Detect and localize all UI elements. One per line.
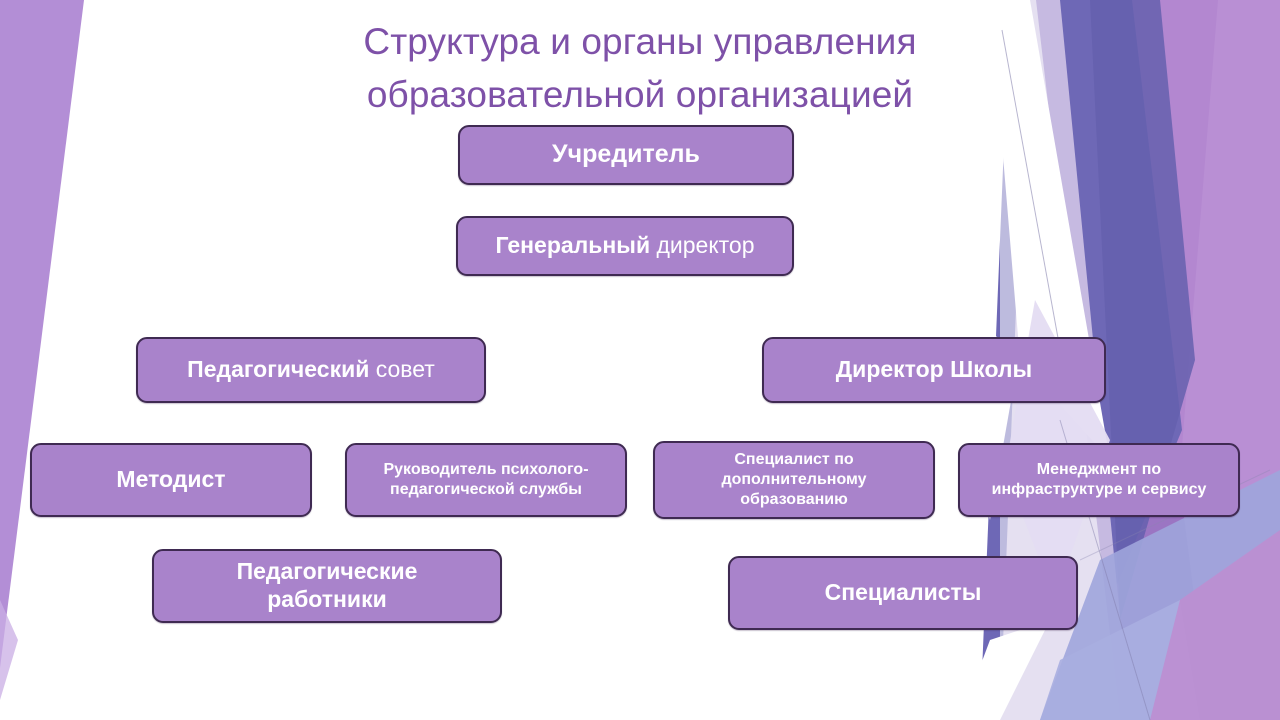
org-node-school-director[interactable]: Директор Школы xyxy=(762,337,1106,403)
org-node-label: Генеральный директор xyxy=(468,232,782,260)
left-wedge-shadow xyxy=(0,600,18,700)
org-node-label: Менеджмент по инфраструктуре и сервису xyxy=(970,460,1228,500)
slide-title: Структура и органы управления образовате… xyxy=(210,16,1070,121)
org-node-psychological-pedagogical-service-head[interactable]: Руководитель психолого- педагогической с… xyxy=(345,443,627,517)
org-node-specialists[interactable]: Специалисты xyxy=(728,556,1078,630)
org-node-founder[interactable]: Учредитель xyxy=(458,125,794,185)
org-node-label: Педагогический совет xyxy=(148,356,474,384)
org-node-label: Специалисты xyxy=(740,579,1066,607)
org-node-label: Специалист по дополнительному образовани… xyxy=(665,450,923,509)
decor-orchid-far xyxy=(1160,0,1280,720)
decor-indigo-deep xyxy=(1090,0,1195,620)
org-node-label-regular: совет xyxy=(369,356,434,382)
org-node-label: Методист xyxy=(42,466,300,494)
org-node-label-regular: директор xyxy=(650,232,754,258)
org-node-pedagogical-staff[interactable]: Педагогические работники xyxy=(152,549,502,623)
left-wedge-shape xyxy=(0,0,84,668)
slide-canvas: Структура и органы управления образовате… xyxy=(0,0,1280,720)
org-node-label: Педагогические работники xyxy=(164,558,490,613)
org-node-label: Руководитель психолого- педагогической с… xyxy=(357,460,615,500)
org-node-infrastructure-service-management[interactable]: Менеджмент по инфраструктуре и сервису xyxy=(958,443,1240,517)
decor-white-lower-notch xyxy=(960,620,1050,720)
org-node-label: Учредитель xyxy=(470,140,782,169)
org-node-pedagogical-council[interactable]: Педагогический совет xyxy=(136,337,486,403)
org-node-label: Директор Школы xyxy=(774,356,1094,384)
org-node-additional-education-specialist[interactable]: Специалист по дополнительному образовани… xyxy=(653,441,935,519)
org-node-general-director[interactable]: Генеральный директор xyxy=(456,216,794,276)
decor-orchid-lower xyxy=(1150,530,1280,720)
org-node-methodologist[interactable]: Методист xyxy=(30,443,312,517)
